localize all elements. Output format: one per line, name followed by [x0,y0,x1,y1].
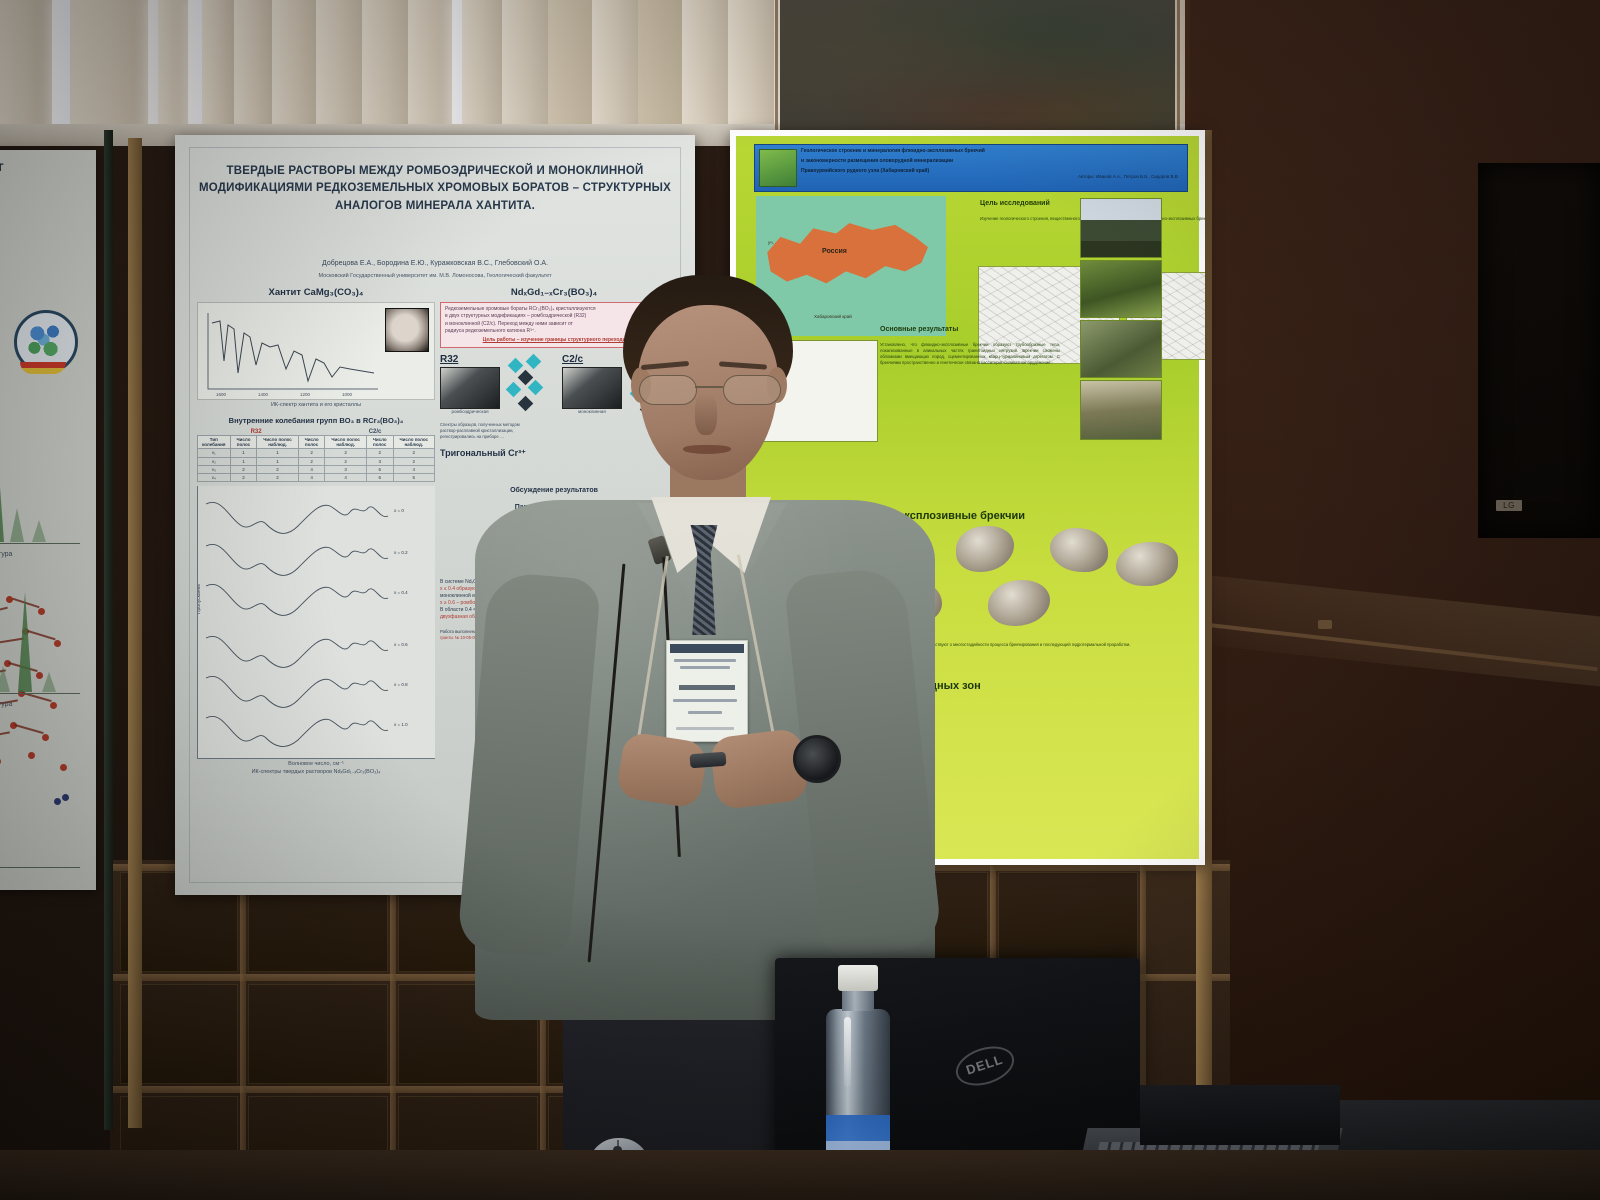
bottle-neck [842,989,874,1011]
display-logo: LG [1496,500,1522,511]
table-row: ν₂ 1 1 2 2 3 2 [198,457,435,465]
cell: 2 [393,449,434,457]
table-row: ν₁ 1 1 2 2 2 2 [198,449,435,457]
poster-right-title-authors: Авторы: Иванов А.А., Петров Б.Б., Сидоро… [755,174,1187,179]
desk-dark-box [1140,1085,1340,1145]
trace-label-5: x = 1.0 [394,722,408,727]
cell: 1 [257,449,298,457]
glasses-lens-left [639,375,697,405]
cell: 1 [230,449,257,457]
table-group-c2c: C2/c [369,429,382,435]
poster-left-spectrum-3 [0,750,86,890]
cell: 5 [393,473,434,481]
rock-sample-3 [1116,542,1178,586]
glasses-lens-right [723,375,781,405]
poster-right-photo-1 [1080,198,1162,258]
poster-right-title-line-0: Геологическое строение и минералогия флю… [755,145,1187,155]
ir-spectra-y-axis-label: Пропускание [197,584,202,614]
cell: 4 [325,473,366,481]
cell: 2 [366,449,393,457]
poster-left-axis-2: Температура [0,701,12,708]
map-country-label: Россия [822,248,847,255]
svg-text:1200: 1200 [300,392,311,397]
cell: 2 [298,457,325,465]
trace-label-4: x = 0.8 [394,682,408,687]
huntite-spectrum-figure: 16001400 12001000 [197,302,435,400]
poster-main-left-column: Хантит CaMg₃(CO₃)₄ 16001400 12001000 ИК-… [197,287,435,775]
bo3-table-heading: Внутренние колебания групп BO₃ в RCr₃(BO… [197,416,435,425]
poster-main-authors: Добрецова Е.А., Бородина Е.Ю., Куражковс… [199,260,671,267]
poster-right-titlebar: Геологическое строение и минералогия флю… [754,144,1188,192]
poster-right-logo-icon [759,149,797,187]
cell: ν₁ [198,449,231,457]
poster-right-title-line-1: и закономерности размещения оловорудной … [755,155,1187,165]
cell: 1 [230,457,257,465]
table-group-r32: R32 [251,429,262,435]
poster-left-spectrum-2: Температура [0,580,86,710]
huntite-heading: Хантит CaMg₃(CO₃)₄ [197,287,435,298]
cell: ν₄ [198,473,231,481]
ir-spectra-x-axis-label: Волновое число, см⁻¹ [197,761,435,767]
th-3: Число полос [298,436,325,449]
huntite-figure-caption: ИК-спектр хантита и его кристаллы [197,402,435,408]
presenter-remote[interactable] [690,752,727,768]
geological-map-frame [775,0,1180,134]
badge-header [670,644,744,653]
ir-spectra-svg [198,486,435,758]
wall-knob [1318,620,1332,629]
board-divider-left [104,130,113,1130]
poster-left[interactable]: …НТИТ …ова [0,150,96,890]
ir-spectra-caption: ИК-спектры твердых растворов NdₓGd₁₋ₓCr₃… [197,769,435,775]
speaker-mouth [683,445,731,454]
huntite-crystal-photo [385,308,429,352]
cell: 1 [257,457,298,465]
th-4: Число полос наблюд. [325,436,366,449]
cell: 2 [230,473,257,481]
cell: 6 [366,473,393,481]
cell: 3 [325,465,366,473]
wristwatch-icon [793,735,841,783]
th-1: Число полос [230,436,257,449]
bo3-vibrations-table: Тип колебания Число полос Число полос на… [197,435,435,482]
th-6: Число полос наблюд. [393,436,434,449]
th-2: Число полос наблюд. [257,436,298,449]
table-row: ν₃ 2 2 4 3 6 4 [198,465,435,473]
poster-left-axis-1: Температура [0,551,12,558]
cell: 4 [298,473,325,481]
poster-left-title: …НТИТ [0,162,42,174]
table-header-row: Тип колебания Число полос Число полос на… [198,436,435,449]
board-frame-left [128,138,142,1128]
cell: 2 [325,449,366,457]
poster-right-photo-2 [1080,260,1162,318]
table-surface [0,1150,1600,1200]
cell: 2 [257,473,298,481]
wall-dark-display [1478,163,1600,538]
svg-text:1400: 1400 [258,392,269,397]
poster-right-photo-3 [1080,320,1162,378]
poster-right-section1-heading: Цель исследований [980,200,1050,207]
speaker-nose [695,393,717,435]
glasses-bridge [695,386,723,388]
cell: 4 [393,465,434,473]
ir-spectra-figure: x = 0 x = 0.2 x = 0.4 x = 0.6 x = 0.8 x … [197,486,435,759]
badge-org [688,711,722,714]
poster-right-photo-4 [1080,380,1162,440]
table-row: ν₄ 2 2 4 4 6 5 [198,473,435,481]
cell: 2 [325,457,366,465]
bottle-highlight [844,1017,851,1087]
cell: 2 [257,465,298,473]
cell: 4 [298,465,325,473]
th-5: Число полос [366,436,393,449]
trace-label-2: x = 0.4 [394,590,408,595]
speaker-hand-right [709,728,809,811]
svg-text:1000: 1000 [342,392,353,397]
poster-main-title: ТВЕРДЫЕ РАСТВОРЫ МЕЖДУ РОМБОЭДРИЧЕСКОЙ И… [199,163,671,215]
presentation-room-photo: LG …НТИТ …ова [0,0,1600,1200]
svg-text:1600: 1600 [216,392,227,397]
cell: 6 [366,465,393,473]
emblem-ribbon-icon [20,362,66,374]
trace-label-3: x = 0.6 [394,642,408,647]
cell: 2 [230,465,257,473]
trace-label-0: x = 0 [394,508,404,513]
th-0: Тип колебания [198,436,231,449]
cell: 3 [366,457,393,465]
poster-left-spectrum-1: Температура [0,430,86,560]
map-inset-label: уч. [768,240,774,245]
cell: 2 [393,457,434,465]
cell: ν₃ [198,465,231,473]
badge-name [679,685,735,690]
conference-badge [666,640,748,742]
trace-label-1: x = 0.2 [394,550,408,555]
bottle-cap[interactable] [838,965,878,991]
cell: ν₂ [198,457,231,465]
poster-right-title-line-2: Правоурмийского рудного узла (Хабаровски… [755,165,1187,175]
cell: 2 [298,449,325,457]
